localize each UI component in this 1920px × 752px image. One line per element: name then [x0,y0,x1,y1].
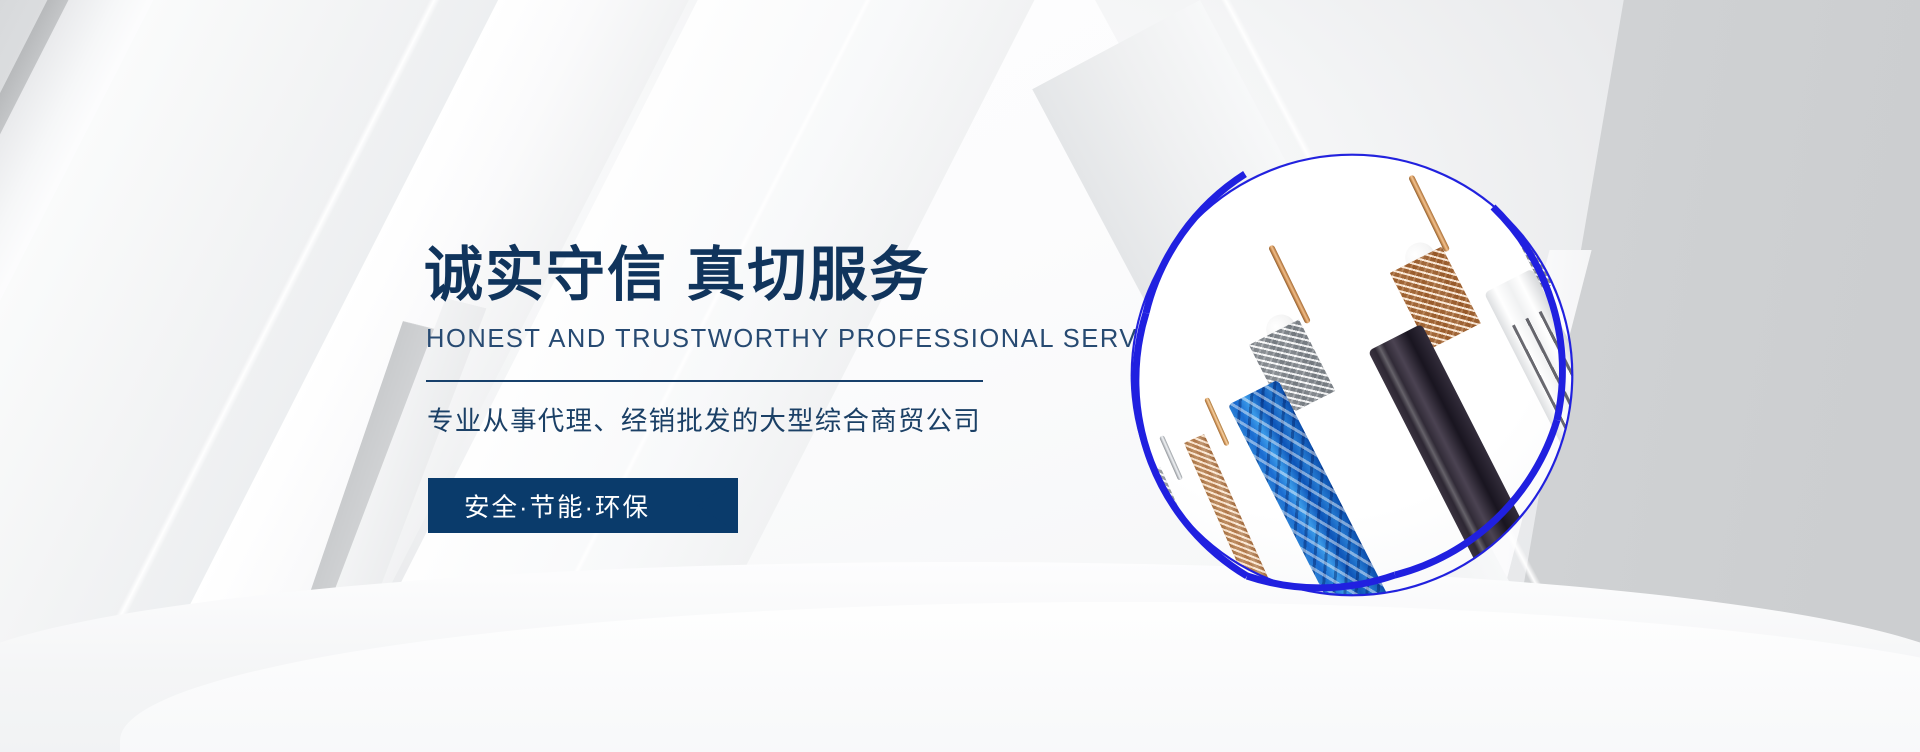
thin-copper-cable-tip [1204,397,1230,447]
page-title: 诚实守信 真切服务 [424,245,1124,307]
product-photo-image [1132,155,1572,595]
hero-banner: 诚实守信 真切服务 HONEST AND TRUSTWORTHY PROFESS… [0,0,1920,752]
ribbon-label: 安全·节能·环保 [428,487,650,524]
hero-text-block: 诚实守信 真切服务 HONEST AND TRUSTWORTHY PROFESS… [424,245,1124,438]
white-coax-foil-texture [1504,188,1572,289]
white-coax-printed-marking [1512,310,1572,491]
product-photo-clip [1132,155,1572,595]
feature-ribbon-badge: 安全·节能·环保 [428,478,738,533]
white-coax-foil-shield [1504,188,1572,289]
divider-rule [426,380,983,382]
black-coax-center-conductor [1408,174,1450,252]
black-coax-gloss [1374,343,1532,595]
product-photo-circle [1127,150,1577,600]
subtitle-english: HONEST AND TRUSTWORTHY PROFESSIONAL SERV… [426,325,1124,354]
blue-coax-center-conductor [1268,244,1311,324]
tagline-chinese: 专业从事代理、经销批发的大型综合商贸公司 [427,399,1124,438]
